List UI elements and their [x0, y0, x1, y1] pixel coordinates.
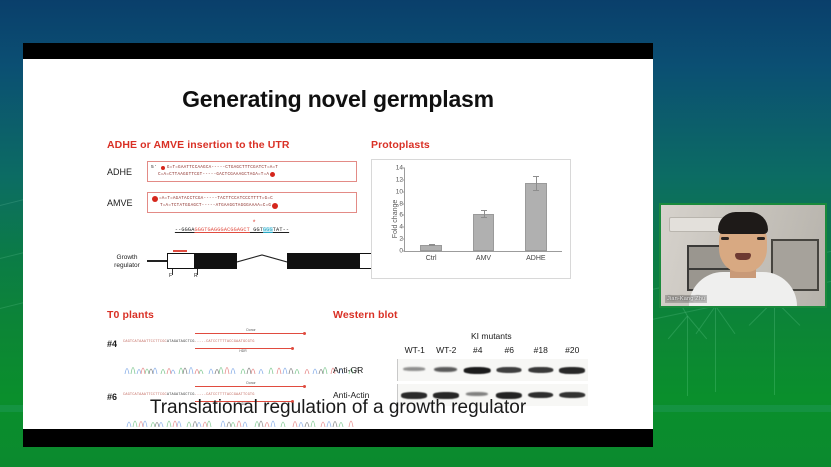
utr-seq-part5: TAT-- — [273, 227, 289, 233]
chart-bar — [473, 214, 495, 251]
utr-seq-part2: GGGTGAGGGACGGAGCT — [194, 227, 249, 233]
western-blot-lane — [556, 359, 588, 381]
protoplasts-bar-chart: Fold change 02468101214CtrlAMVADHE — [371, 159, 571, 279]
adhe-bottom-strand: C=A=CTTAAGGTTCGT-----GACTCGAAAGCTAGA=T=A — [151, 172, 352, 179]
construct-adhe: ADHE 5' G=T=GAATTCCAAGCA-----CTGAGCTTTCG… — [107, 161, 357, 182]
red-dot-icon — [152, 196, 158, 202]
utr-seq-part4: GGG — [263, 227, 273, 233]
chart-y-tick-mark — [402, 168, 405, 169]
western-blot-lane-label: #20 — [557, 345, 589, 355]
red-dot-icon — [272, 203, 278, 209]
western-blot-band — [403, 367, 425, 371]
primer-f-label: F — [169, 273, 172, 279]
construct-amve: AMVE =A=T=AGATACCTCGA-----TACTTCCATCCCTT… — [107, 192, 357, 213]
utr-seq-part1: --GGGA — [175, 227, 195, 233]
participant-name-label: Jian-Kang Zhu — [665, 295, 707, 303]
western-blot-row-label: Anti-GR — [333, 365, 397, 375]
western-blot-band — [434, 367, 458, 372]
chart-plot-area: 02468101214CtrlAMVADHE — [404, 168, 562, 252]
chart-y-tick-mark — [402, 227, 405, 228]
ki-mutants-label: KI mutants — [471, 331, 512, 341]
western-blot-lane-label: WT-2 — [431, 345, 463, 355]
chart-error-bar — [536, 176, 537, 190]
presentation-slide-frame: Generating novel germplasm ADHE or AMVE … — [23, 43, 653, 447]
amve-bottom-sequence-text: T=A=TCTATGGAGCT-----ATGAAGGTAGGGAAAA=C=G — [160, 203, 271, 210]
western-blot-band — [466, 392, 488, 396]
chart-y-tick-mark — [402, 203, 405, 204]
gene-model-label: Growth regulator — [107, 254, 147, 270]
utr-highlighted-sequence: * --GGGAGGGTGAGGGACGGAGCT GGTGGGTAT-- — [107, 227, 357, 233]
western-blot-band — [464, 367, 491, 374]
protoplasts-panel-heading: Protoplasts — [371, 139, 586, 151]
participant-eye-left — [721, 237, 729, 240]
western-blot-band — [496, 367, 521, 373]
gene-model-graphic: F R — [147, 245, 357, 279]
t0-seq-left: CAGTCATAAATTCCTTCGC — [123, 340, 167, 344]
western-blot-band — [559, 367, 585, 374]
intron-line — [237, 253, 287, 269]
construct-adhe-sequence-box: 5' G=T=GAATTCCAAGCA-----CTGAGCTTTCGATCT=… — [147, 161, 357, 182]
western-blot-lane-label: #6 — [494, 345, 526, 355]
five-prime-label: 5' — [151, 165, 157, 172]
panel-protoplasts: Protoplasts Fold change 02468101214CtrlA… — [371, 139, 586, 279]
western-blot-lane — [525, 359, 557, 381]
western-blot-lane — [493, 359, 525, 381]
construct-amve-label: AMVE — [107, 198, 147, 208]
amve-bottom-strand: T=A=TCTATGGAGCT-----ATGAAGGTAGGGAAAA=C=G — [151, 203, 352, 210]
chart-error-bar — [431, 244, 432, 246]
chart-y-tick-mark — [402, 215, 405, 216]
t0-sequence-text: CAGTCATAAATTCCTTCGCATAGATAGCTCG-----CATC… — [123, 340, 357, 344]
t0-plant-id: #4 — [107, 330, 123, 349]
construct-adhe-label: ADHE — [107, 167, 147, 177]
t0-sequence-body: Donor CAGTCATAAATTCCTTCGCATAGATAGCTCG---… — [123, 330, 357, 374]
participant-figure — [689, 222, 797, 306]
t0-seq-mid: ATAGATAGCTCG — [167, 340, 195, 344]
western-blot-lane-label: #18 — [525, 345, 557, 355]
western-blot-lane-labels: WT-1WT-2#4#6#18#20 — [399, 345, 588, 355]
construct-amve-sequence-box: =A=T=AGATACCTCGA-----TACTTCCATCCCTTTT=G=… — [147, 192, 357, 213]
gene-label-line1: Growth — [107, 254, 147, 262]
chart-y-tick-mark — [402, 191, 405, 192]
participant-eye-right — [757, 237, 765, 240]
video-background — [661, 205, 825, 306]
stop-codon-star: * — [252, 221, 256, 227]
chart-x-tick: Ctrl — [426, 255, 437, 262]
chart-error-bar — [484, 210, 485, 218]
chart-y-tick-mark — [402, 251, 405, 252]
t0-donor-label: Donor — [246, 381, 255, 385]
chart-x-tick: ADHE — [526, 255, 545, 262]
t0-seq-right: CATCCTTTTACCGA — [206, 340, 238, 344]
gene-label-line2: regulator — [107, 262, 147, 270]
participant-hair — [718, 212, 768, 234]
western-blot-lane — [461, 359, 493, 381]
chart-y-tick-mark — [402, 239, 405, 240]
western-blot-row: Anti-GR — [333, 359, 588, 381]
western-blot-lane — [430, 359, 462, 381]
gene-model-diagram: Growth regulator — [107, 245, 357, 279]
western-blot-band — [528, 367, 553, 373]
presentation-slide: Generating novel germplasm ADHE or AMVE … — [23, 59, 653, 429]
chart-bar — [525, 183, 547, 251]
chart-x-tick: AMV — [476, 255, 491, 262]
t0-row: #4 Donor CAGTCATAAATTCCTTCGCATAGATAGCTCG… — [107, 330, 357, 374]
t0-donor-label: Donor — [246, 328, 255, 332]
primer-r-label: R — [194, 273, 198, 279]
western-blot-heading: Western blot — [333, 309, 588, 321]
screen: Generating novel germplasm ADHE or AMVE … — [0, 0, 831, 467]
utr-panel-heading: ADHE or AMVE insertion to the UTR — [107, 139, 357, 151]
western-blot-lane-label: #4 — [462, 345, 494, 355]
slide-caption: Translational regulation of a growth reg… — [23, 397, 653, 419]
slide-title: Generating novel germplasm — [23, 86, 653, 113]
t0-panel-heading: T0 plants — [107, 309, 357, 321]
chromatogram-trace — [123, 352, 363, 374]
t0-seq-end: ATGCGTG — [238, 340, 254, 344]
panel-utr-insertion: ADHE or AMVE insertion to the UTR ADHE 5… — [107, 139, 357, 279]
red-dot-icon — [270, 172, 275, 177]
red-dot-icon — [160, 165, 166, 171]
adhe-bottom-sequence-text: C=A=CTTAAGGTTCGT-----GACTCGAAAGCTAGA=T=A — [158, 172, 269, 179]
western-blot-gel — [397, 359, 588, 381]
participant-video-tile[interactable]: Jian-Kang Zhu — [659, 203, 827, 308]
western-blot-lane-label: WT-1 — [399, 345, 431, 355]
t0-seq-gap: ----- — [195, 340, 207, 344]
chart-y-axis-label: Fold change — [392, 200, 399, 239]
chart-y-tick-mark — [402, 179, 405, 180]
western-blot-lane — [398, 359, 430, 381]
participant-mouth — [735, 253, 751, 260]
